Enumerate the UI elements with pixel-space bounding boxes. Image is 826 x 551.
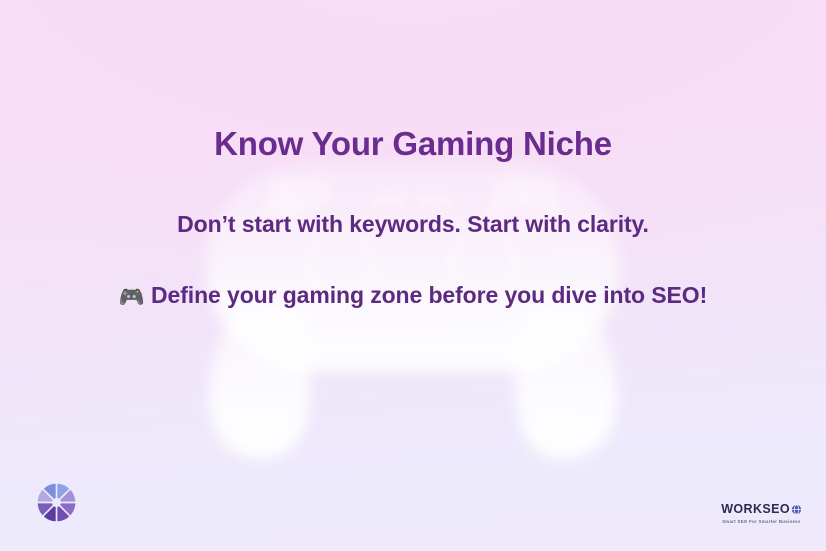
brand-name-text: WORKSEO — [721, 503, 790, 516]
page-title: Know Your Gaming Niche — [0, 124, 826, 164]
slide-content: Know Your Gaming Niche Don’t start with … — [0, 0, 826, 551]
globe-icon — [791, 504, 802, 515]
game-controller-icon: 🎮 — [119, 286, 145, 309]
color-wheel-icon — [36, 482, 77, 523]
slide-canvas: Know Your Gaming Niche Don’t start with … — [0, 0, 826, 551]
brand-name: WORKSEO — [721, 503, 802, 516]
brand-tagline: Smart SEO For Smarter Business — [720, 520, 802, 524]
call-to-action-line: 🎮Define your gaming zone before you dive… — [0, 281, 826, 311]
subtitle-text: Don’t start with keywords. Start with cl… — [0, 210, 826, 239]
call-to-action-text: Define your gaming zone before you dive … — [151, 282, 707, 308]
brand-logo: WORKSEO Smart SEO For Smarter Business — [721, 501, 802, 524]
